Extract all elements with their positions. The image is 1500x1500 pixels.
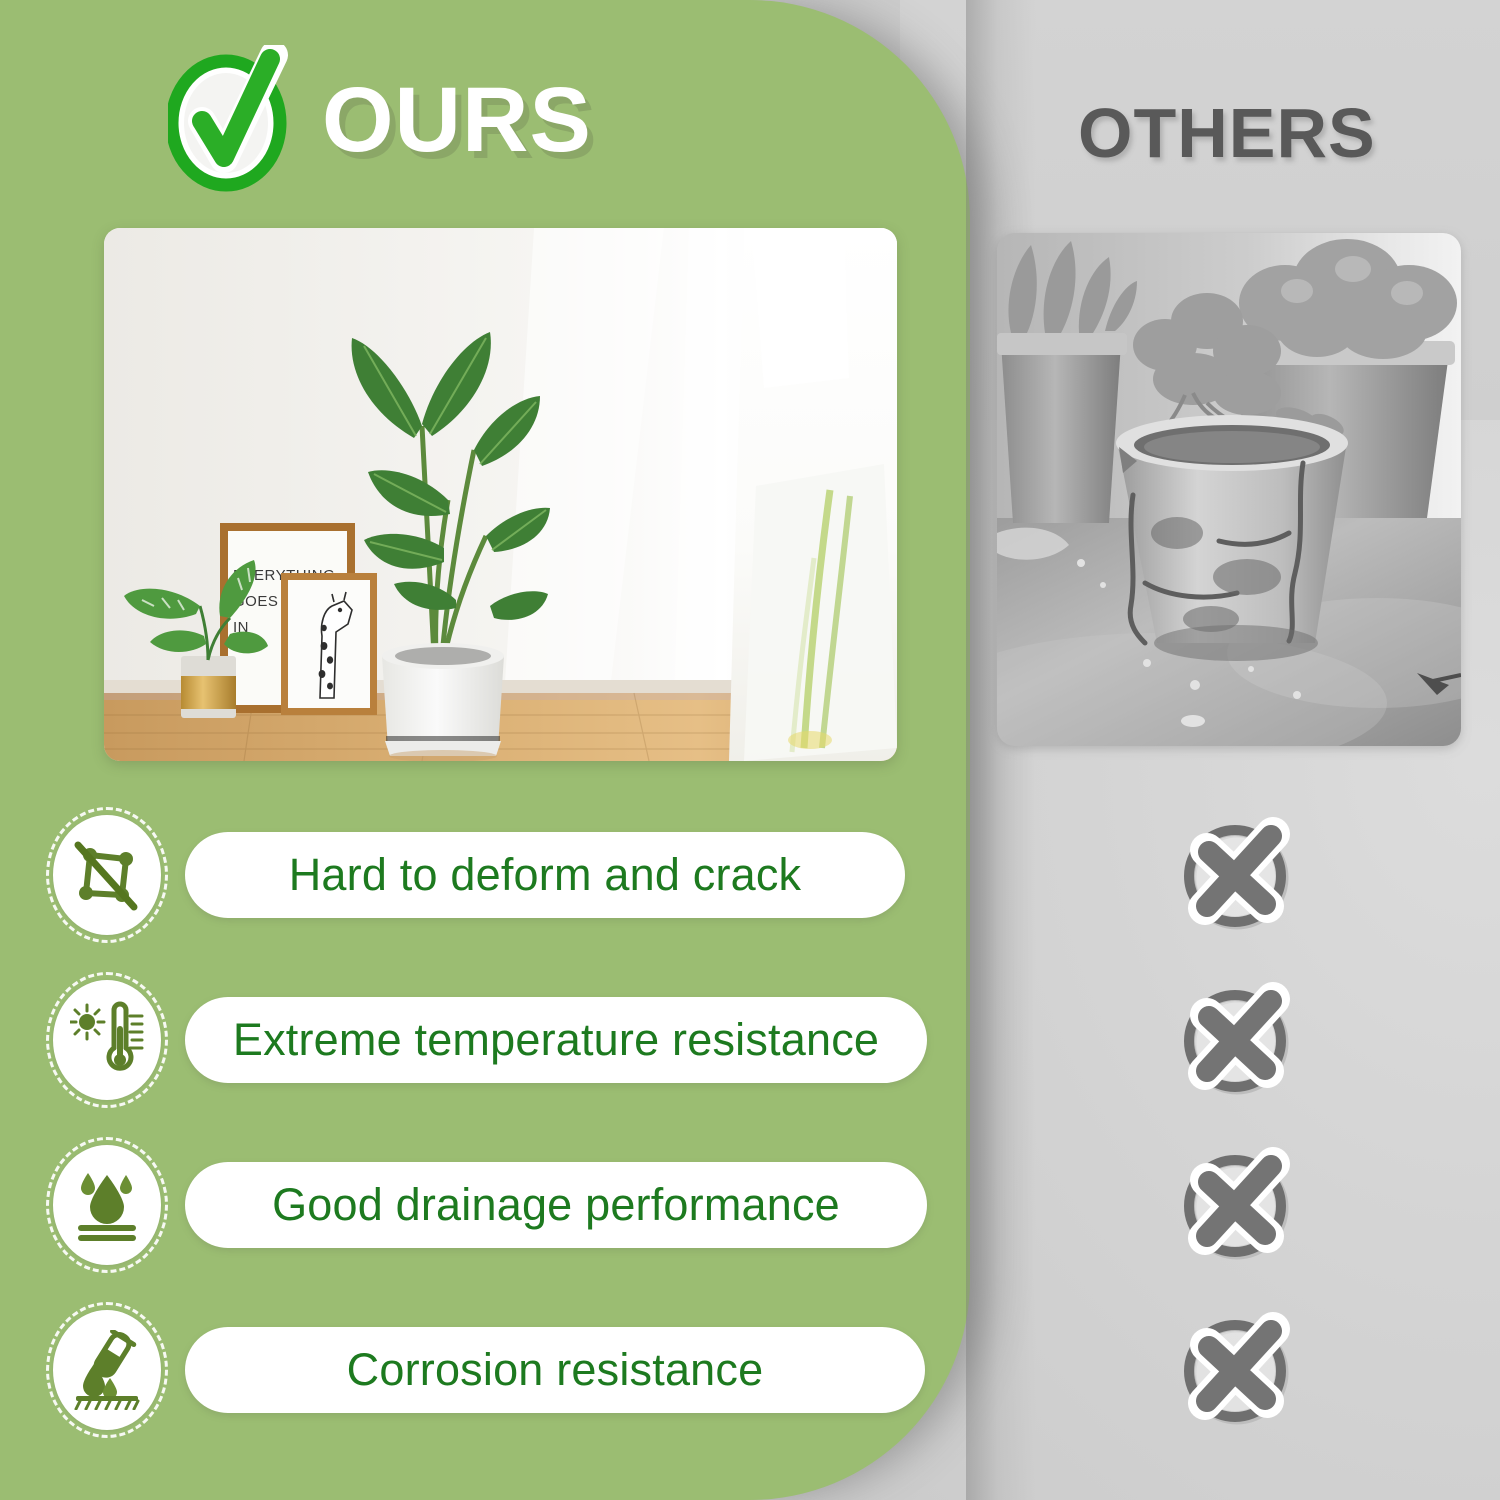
x-circle-icon [1179,812,1305,938]
feature-row: Hard to deform and crack [0,792,970,957]
green-check-circle-icon [168,45,296,195]
others-mark-slot [1176,792,1308,957]
feature-icon-badge [46,972,168,1108]
others-product-photo [997,233,1461,746]
feature-pill: Corrosion resistance [185,1327,925,1413]
feature-icon-badge [46,1137,168,1273]
feature-label: Good drainage performance [272,1179,840,1231]
feature-row: Corrosion resistance [0,1287,970,1452]
x-circle-icon [1179,1142,1305,1268]
feature-label: Hard to deform and crack [289,849,802,901]
x-circle-icon [1179,977,1305,1103]
sun-thermometer-icon [70,1000,144,1080]
corrosion-test-tube-icon [70,1330,144,1410]
feature-pill: Good drainage performance [185,1162,927,1248]
others-mark-slot [1176,1287,1308,1452]
feature-icon-badge [46,807,168,943]
water-drainage-icon [70,1165,144,1245]
others-title: OTHERS [1078,98,1376,168]
ours-header: OURS [168,45,592,195]
x-circle-icon [1179,1307,1305,1433]
features-list: Hard to deform and crack [0,792,970,1452]
feature-icon-badge [46,1302,168,1438]
others-mark-slot [1176,957,1308,1122]
feature-label: Corrosion resistance [347,1344,764,1396]
others-mark-slot [1176,1122,1308,1287]
no-deform-icon [70,835,144,915]
feature-pill: Extreme temperature resistance [185,997,927,1083]
feature-row: Extreme temperature resistance [0,957,970,1122]
feature-row: Good drainage performance [0,1122,970,1287]
ours-title: OURS [322,74,592,166]
feature-label: Extreme temperature resistance [233,1014,879,1066]
others-marks-list [1176,792,1308,1452]
ours-product-photo: EVERYTHING GOES WELL IN [104,228,897,761]
feature-pill: Hard to deform and crack [185,832,905,918]
